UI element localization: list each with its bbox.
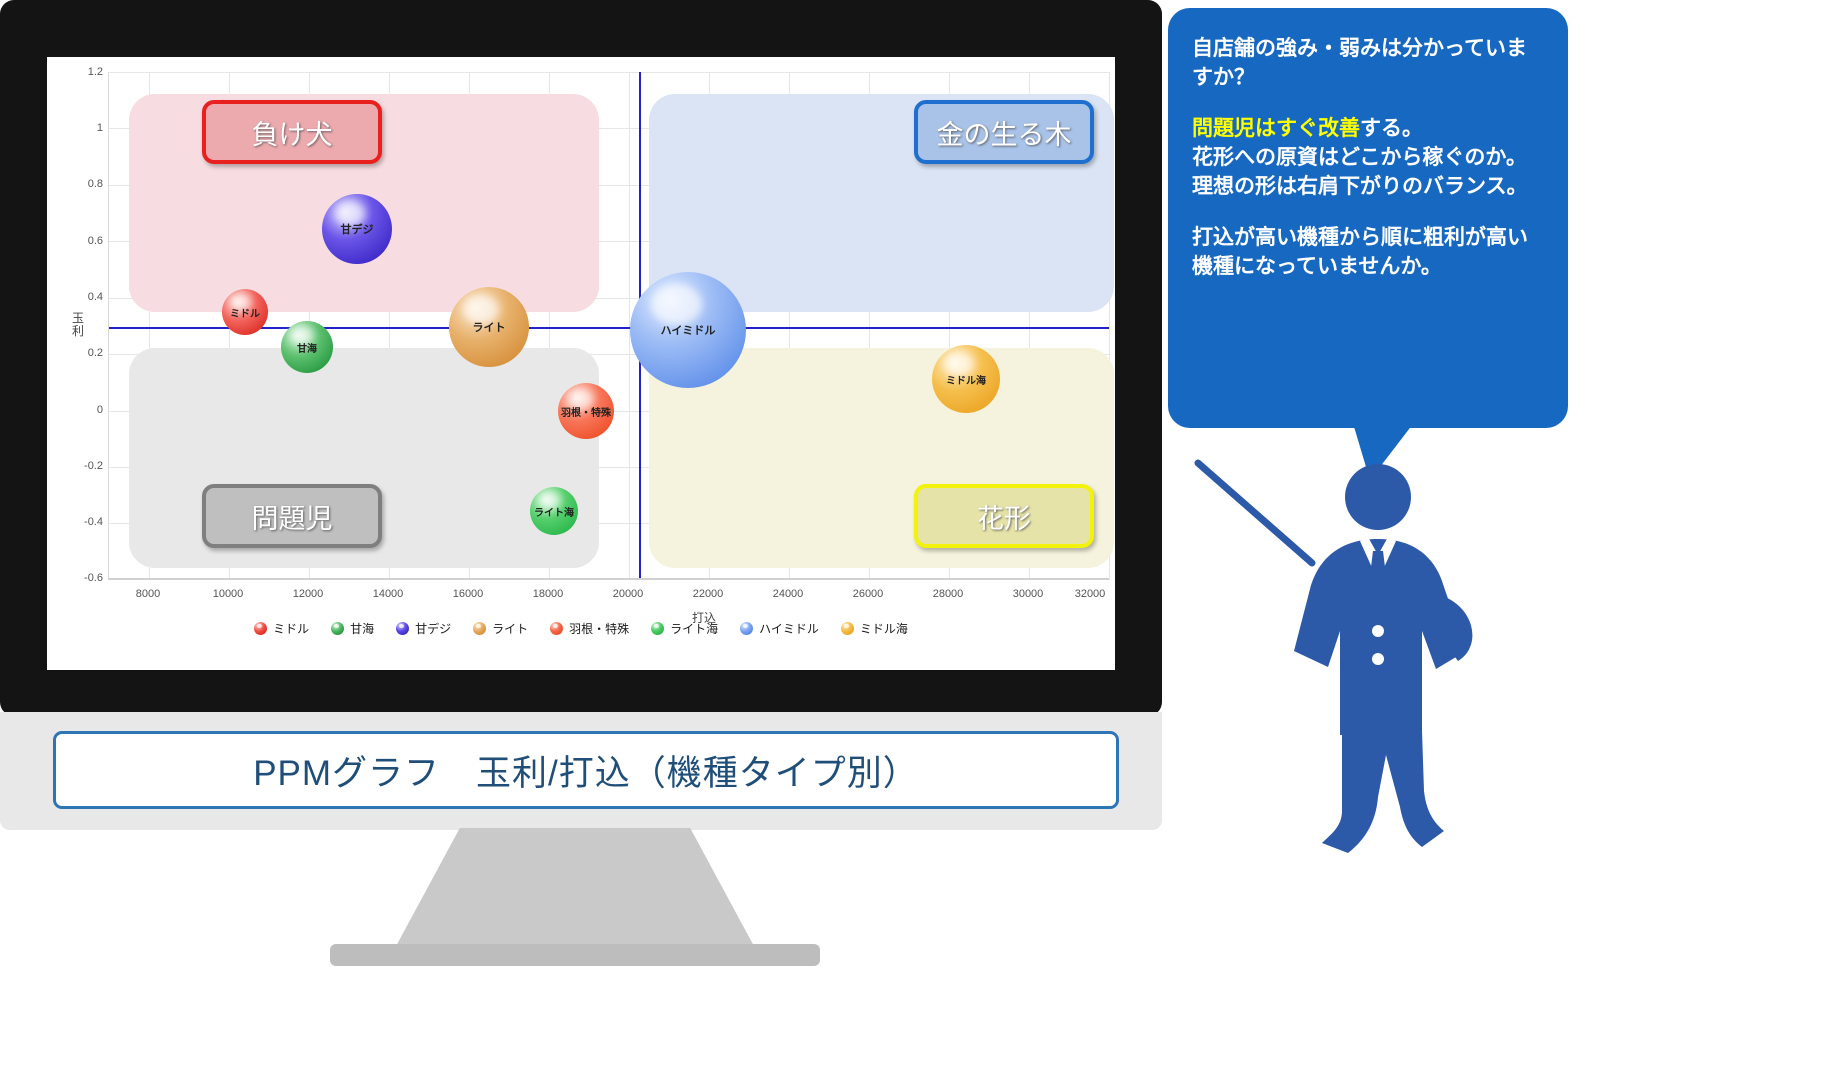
legend-item[interactable]: ミドル海 bbox=[841, 620, 908, 637]
bubble-raitokai[interactable]: ライト海 bbox=[530, 487, 578, 535]
bubble-haimidoru[interactable]: ハイミドル bbox=[630, 272, 746, 388]
callout-line-3: 花形への原資はどこから稼ぐのか。 bbox=[1192, 143, 1544, 172]
legend-label: 甘海 bbox=[350, 620, 374, 637]
legend-swatch-icon bbox=[396, 622, 409, 635]
presenter-button bbox=[1372, 625, 1384, 637]
title-plate: PPMグラフ 玉利/打込（機種タイプ別） bbox=[53, 731, 1119, 809]
y-tick-0.2: 0.2 bbox=[65, 347, 103, 359]
legend-label: ミドル海 bbox=[860, 620, 908, 637]
quadrant-label-star-text: 花形 bbox=[977, 497, 1031, 536]
callout-line-2-rest: する。 bbox=[1360, 117, 1423, 140]
quadrant-label-cashcow-text: 金の生る木 bbox=[937, 113, 1072, 152]
x-tick-20000: 20000 bbox=[598, 588, 658, 600]
gridline-h bbox=[109, 72, 1109, 73]
x-tick-10000: 10000 bbox=[198, 588, 258, 600]
bubble-midoru[interactable]: ミドル bbox=[222, 289, 268, 335]
bubble-raito[interactable]: ライト bbox=[449, 287, 529, 367]
x-tick-12000: 12000 bbox=[278, 588, 338, 600]
legend-label: 甘デジ bbox=[415, 620, 451, 637]
y-tick--0.2: -0.2 bbox=[61, 460, 103, 472]
legend-swatch-icon bbox=[473, 622, 486, 635]
y-tick-0.6: 0.6 bbox=[65, 235, 103, 247]
x-axis-line bbox=[109, 578, 1109, 580]
x-tick-22000: 22000 bbox=[678, 588, 738, 600]
y-tick--0.6: -0.6 bbox=[61, 572, 103, 584]
presenter-legs bbox=[1322, 731, 1444, 853]
x-tick-16000: 16000 bbox=[438, 588, 498, 600]
x-tick-30000: 30000 bbox=[998, 588, 1058, 600]
y-axis-label: 玉利 bbox=[71, 312, 85, 338]
monitor-bezel: 1.2 1 0.8 0.6 0.4 0.2 0 -0.2 -0.4 -0.6 玉… bbox=[0, 0, 1162, 716]
presenter-illustration bbox=[1190, 455, 1510, 855]
x-tick-14000: 14000 bbox=[358, 588, 418, 600]
callout-line-1: 自店舗の強み・弱みは分かっていますか？ bbox=[1192, 34, 1544, 92]
legend-item[interactable]: 羽根・特殊 bbox=[550, 620, 629, 637]
bubble-label: 羽根・特殊 bbox=[561, 404, 611, 419]
legend-label: ライト海 bbox=[670, 620, 718, 637]
presenter-button bbox=[1372, 653, 1384, 665]
x-tick-28000: 28000 bbox=[918, 588, 978, 600]
x-tick-8000: 8000 bbox=[118, 588, 178, 600]
callout-line-5: 打込が高い機種から順に粗利が高い機種になっていませんか。 bbox=[1192, 223, 1544, 281]
quadrant-label-cashcow: 金の生る木 bbox=[914, 100, 1094, 164]
y-tick-1: 1 bbox=[65, 122, 103, 134]
quadrant-label-problemchild: 問題児 bbox=[202, 484, 382, 548]
legend-item[interactable]: 甘デジ bbox=[396, 620, 451, 637]
monitor-screen: 1.2 1 0.8 0.6 0.4 0.2 0 -0.2 -0.4 -0.6 玉… bbox=[47, 57, 1115, 670]
quadrant-label-star: 花形 bbox=[914, 484, 1094, 548]
bubble-label: ライト海 bbox=[534, 504, 574, 519]
bubble-label: ライト bbox=[473, 319, 506, 335]
y-tick-0.8: 0.8 bbox=[65, 178, 103, 190]
quadrant-label-dog: 負け犬 bbox=[202, 100, 382, 164]
legend-swatch-icon bbox=[841, 622, 854, 635]
quadrant-label-dog-text: 負け犬 bbox=[252, 113, 333, 152]
bubble-amakai[interactable]: 甘海 bbox=[281, 321, 333, 373]
bubble-label: ミドル海 bbox=[946, 372, 986, 387]
pointer-stick bbox=[1198, 463, 1312, 563]
bubble-hane-tokushu[interactable]: 羽根・特殊 bbox=[558, 383, 614, 439]
callout-spacer bbox=[1192, 201, 1544, 223]
callout-spacer bbox=[1192, 92, 1544, 114]
legend-item[interactable]: ライト bbox=[473, 620, 528, 637]
y-tick--0.4: -0.4 bbox=[61, 516, 103, 528]
legend-label: ハイミドル bbox=[759, 620, 819, 637]
page-title: PPMグラフ 玉利/打込（機種タイプ別） bbox=[253, 745, 919, 796]
legend-item[interactable]: ミドル bbox=[254, 620, 309, 637]
bubble-midorukai[interactable]: ミドル海 bbox=[932, 345, 1000, 413]
bubble-label: 甘海 bbox=[297, 340, 317, 355]
x-tick-24000: 24000 bbox=[758, 588, 818, 600]
monitor-base bbox=[330, 944, 820, 966]
presenter-head bbox=[1345, 464, 1411, 530]
legend-swatch-icon bbox=[740, 622, 753, 635]
legend-swatch-icon bbox=[651, 622, 664, 635]
monitor-stand bbox=[395, 828, 755, 948]
quadrant-label-problemchild-text: 問題児 bbox=[252, 497, 333, 536]
legend-item[interactable]: ハイミドル bbox=[740, 620, 819, 637]
legend-label: ミドル bbox=[273, 620, 309, 637]
legend-swatch-icon bbox=[331, 622, 344, 635]
legend-item[interactable]: ライト海 bbox=[651, 620, 718, 637]
chart-legend: ミドル 甘海 甘デジ ライト 羽根・特殊 bbox=[47, 620, 1115, 637]
legend-label: 羽根・特殊 bbox=[569, 620, 629, 637]
legend-label: ライト bbox=[492, 620, 528, 637]
legend-item[interactable]: 甘海 bbox=[331, 620, 374, 637]
callout-bubble: 自店舗の強み・弱みは分かっていますか？ 問題児はすぐ改善する。 花形への原資はど… bbox=[1168, 8, 1568, 428]
ppm-chart: 1.2 1 0.8 0.6 0.4 0.2 0 -0.2 -0.4 -0.6 玉… bbox=[47, 57, 1115, 670]
x-tick-18000: 18000 bbox=[518, 588, 578, 600]
callout-line-2: 問題児はすぐ改善する。 bbox=[1192, 114, 1544, 143]
y-tick-0: 0 bbox=[65, 404, 103, 416]
callout-highlight: 問題児はすぐ改善 bbox=[1192, 117, 1360, 140]
legend-swatch-icon bbox=[254, 622, 267, 635]
bubble-label: ミドル bbox=[230, 305, 260, 320]
bubble-label: 甘デジ bbox=[341, 221, 374, 237]
plot-area: 負け犬 金の生る木 問題児 花形 ミドル 甘海 bbox=[108, 72, 1109, 580]
x-tick-32000: 32000 bbox=[1060, 588, 1115, 600]
callout-line-4: 理想の形は右肩下がりのバランス。 bbox=[1192, 172, 1544, 201]
bubble-label: ハイミドル bbox=[661, 322, 716, 338]
bubble-amadeji[interactable]: 甘デジ bbox=[322, 194, 392, 264]
x-tick-26000: 26000 bbox=[838, 588, 898, 600]
y-tick-1.2: 1.2 bbox=[65, 66, 103, 78]
legend-swatch-icon bbox=[550, 622, 563, 635]
y-tick-0.4: 0.4 bbox=[65, 291, 103, 303]
